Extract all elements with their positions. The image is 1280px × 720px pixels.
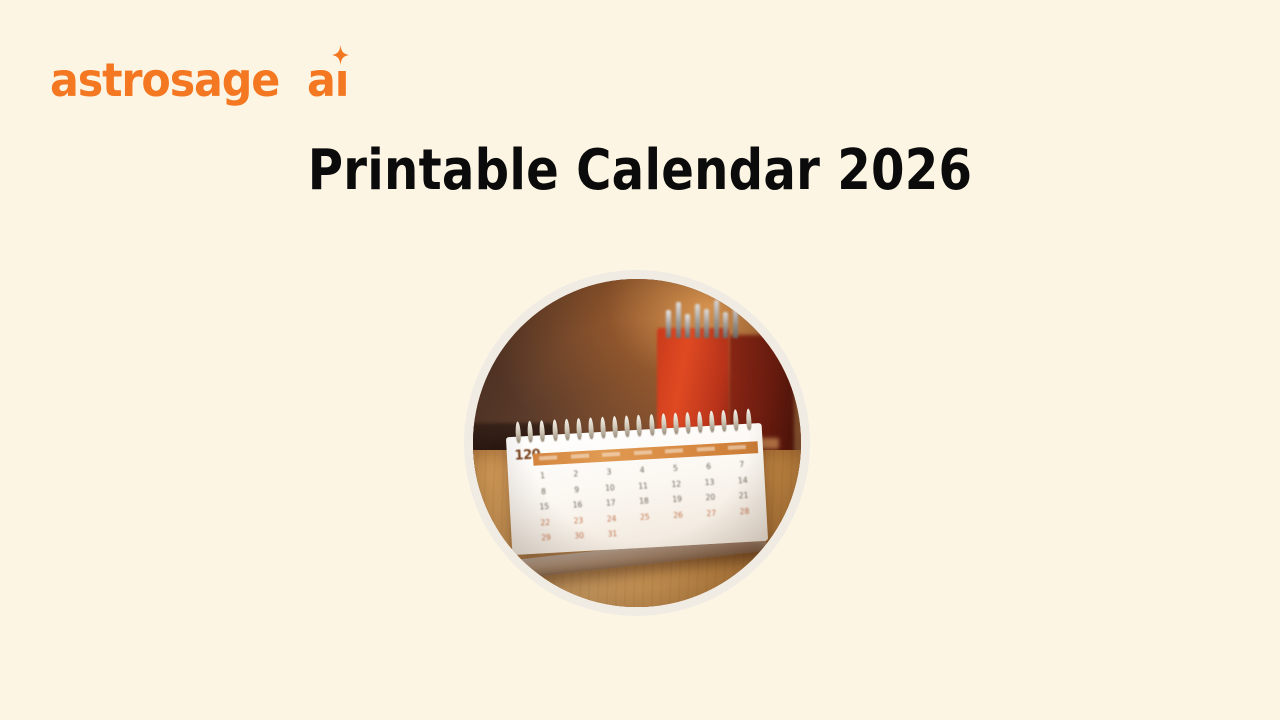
brand-name-text: astrosage [50,54,279,106]
photo-calendar-date [662,530,695,532]
photo-calendar-date: 25 [628,512,662,521]
photo-calendar-date: 2 [559,469,593,478]
photo-calendar-date: 9 [560,485,594,494]
photo-calendar-date [696,528,729,530]
photo-calendar-date: 12 [660,479,694,488]
photo-calendar-date: 27 [695,509,729,518]
photo-desk-calendar: 120 123456789101112131415161718192021222… [506,423,768,555]
photo-calendar-grid: 1234567891011121314151617181920212223242… [526,456,763,547]
photo-calendar-date: 15 [528,502,562,511]
brand-suffix-text: ai [307,54,348,106]
page-title: Printable Calendar 2026 [90,138,1191,204]
photo-calendar-date: 5 [659,464,693,473]
photo-calendar-date: 26 [661,511,695,520]
photo-calendar-date: 20 [694,493,728,502]
photo-calendar-date: 1 [526,471,560,480]
i-dot-mask [336,57,348,71]
photo-pencils [663,299,742,338]
photo-calendar-page: 120 123456789101112131415161718192021222… [506,423,768,555]
photo-calendar-date: 28 [728,507,762,516]
photo-calendar-date: 21 [727,491,761,500]
photo-calendar-date: 17 [594,499,628,508]
photo-calendar-date: 3 [592,468,626,477]
photo-calendar-date: 30 [563,532,597,541]
photo-calendar-date: 10 [593,483,627,492]
brand-logo[interactable]: astrosage ai [50,54,352,106]
photo-calendar-date: 11 [626,481,660,490]
photo-calendar-date: 18 [627,497,661,506]
photo-calendar-date: 19 [660,495,694,504]
photo-calendar-date: 14 [726,476,760,485]
page-root: astrosage ai Printable Calendar 2026 [0,0,1280,720]
photo-calendar-date: 8 [527,487,561,496]
photo-calendar-date: 13 [693,478,727,487]
photo-calendar-date [729,526,762,528]
photo-calendar-date [629,532,662,534]
photo-calendar-date: 6 [692,462,726,471]
hero-image: 120 123456789101112131415161718192021222… [473,279,801,607]
photo-calendar-date: 7 [725,460,759,469]
photo-calendar-date: 31 [596,530,630,539]
photo-calendar-date: 16 [561,501,595,510]
photo-calendar-date: 29 [529,534,563,543]
photo-calendar-date: 22 [529,518,563,527]
photo-calendar-date: 24 [595,514,629,523]
photo-calendar-date: 4 [626,466,660,475]
photo-calendar-date: 23 [562,516,596,525]
hero-image-ring: 120 123456789101112131415161718192021222… [464,270,810,616]
